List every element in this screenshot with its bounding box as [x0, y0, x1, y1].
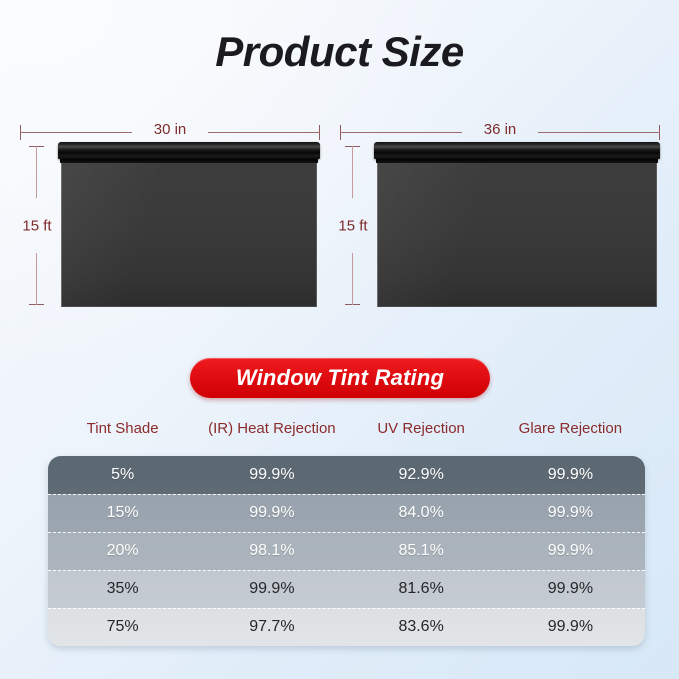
- cell-uv-rejection: 92.9%: [347, 466, 496, 484]
- dimension-line-top: [352, 146, 353, 198]
- tint-rating-table: 5% 99.9% 92.9% 99.9% 15% 99.9% 84.0% 99.…: [48, 456, 645, 646]
- column-header-heat-rejection: (IR) Heat Rejection: [197, 420, 346, 437]
- table-header-row: Tint Shade (IR) Heat Rejection UV Reject…: [48, 420, 645, 437]
- product-roll-36in: 36 in 15 ft: [340, 112, 660, 307]
- table-row: 75% 97.7% 83.6% 99.9%: [48, 608, 645, 646]
- column-header-uv-rejection: UV Rejection: [347, 420, 496, 437]
- cell-heat-rejection: 99.9%: [197, 466, 346, 484]
- cell-uv-rejection: 85.1%: [347, 542, 496, 560]
- height-dimension-36in: 15 ft: [336, 144, 370, 307]
- dimension-line-bottom: [352, 253, 353, 305]
- table-row: 15% 99.9% 84.0% 99.9%: [48, 494, 645, 532]
- page-title: Product Size: [0, 28, 679, 76]
- cell-glare-rejection: 99.9%: [496, 542, 645, 560]
- roll-core-icon: [58, 142, 320, 159]
- dimension-line-top: [36, 146, 37, 198]
- width-dimension-36in: 36 in: [340, 122, 660, 142]
- table-row: 5% 99.9% 92.9% 99.9%: [48, 456, 645, 494]
- height-dimension-30in: 15 ft: [20, 144, 54, 307]
- width-dimension-30in: 30 in: [20, 122, 320, 142]
- cell-heat-rejection: 97.7%: [197, 618, 346, 636]
- dimension-line-left: [20, 132, 132, 133]
- cell-glare-rejection: 99.9%: [496, 504, 645, 522]
- cell-uv-rejection: 84.0%: [347, 504, 496, 522]
- dimension-line-right: [208, 132, 320, 133]
- cell-uv-rejection: 81.6%: [347, 580, 496, 598]
- roll-lip: [60, 159, 318, 163]
- cell-heat-rejection: 99.9%: [197, 504, 346, 522]
- dimension-line-bottom: [36, 253, 37, 305]
- height-label-36in: 15 ft: [338, 217, 367, 234]
- tint-film-body: [377, 163, 657, 307]
- cell-glare-rejection: 99.9%: [496, 466, 645, 484]
- film-sheet-36in: [374, 142, 660, 307]
- width-label-30in: 30 in: [146, 121, 195, 138]
- cell-tint-shade: 5%: [48, 466, 197, 484]
- section-banner-window-tint-rating: Window Tint Rating: [190, 358, 490, 398]
- cell-tint-shade: 15%: [48, 504, 197, 522]
- infographic-canvas: Product Size 30 in 15 ft: [0, 0, 679, 679]
- table-row: 20% 98.1% 85.1% 99.9%: [48, 532, 645, 570]
- cell-uv-rejection: 83.6%: [347, 618, 496, 636]
- cell-heat-rejection: 99.9%: [197, 580, 346, 598]
- height-label-30in: 15 ft: [22, 217, 51, 234]
- cell-tint-shade: 20%: [48, 542, 197, 560]
- cell-heat-rejection: 98.1%: [197, 542, 346, 560]
- cell-tint-shade: 35%: [48, 580, 197, 598]
- product-roll-30in: 30 in 15 ft: [20, 112, 320, 307]
- column-header-glare-rejection: Glare Rejection: [496, 420, 645, 437]
- cell-glare-rejection: 99.9%: [496, 618, 645, 636]
- roll-lip: [376, 159, 658, 163]
- width-label-36in: 36 in: [476, 121, 525, 138]
- roll-core-icon: [374, 142, 660, 159]
- banner-label: Window Tint Rating: [236, 365, 444, 391]
- tint-film-body: [61, 163, 317, 307]
- cell-glare-rejection: 99.9%: [496, 580, 645, 598]
- column-header-tint-shade: Tint Shade: [48, 420, 197, 437]
- cell-tint-shade: 75%: [48, 618, 197, 636]
- table-row: 35% 99.9% 81.6% 99.9%: [48, 570, 645, 608]
- dimension-line-left: [340, 132, 462, 133]
- dimension-line-right: [538, 132, 660, 133]
- film-sheet-30in: [58, 142, 320, 307]
